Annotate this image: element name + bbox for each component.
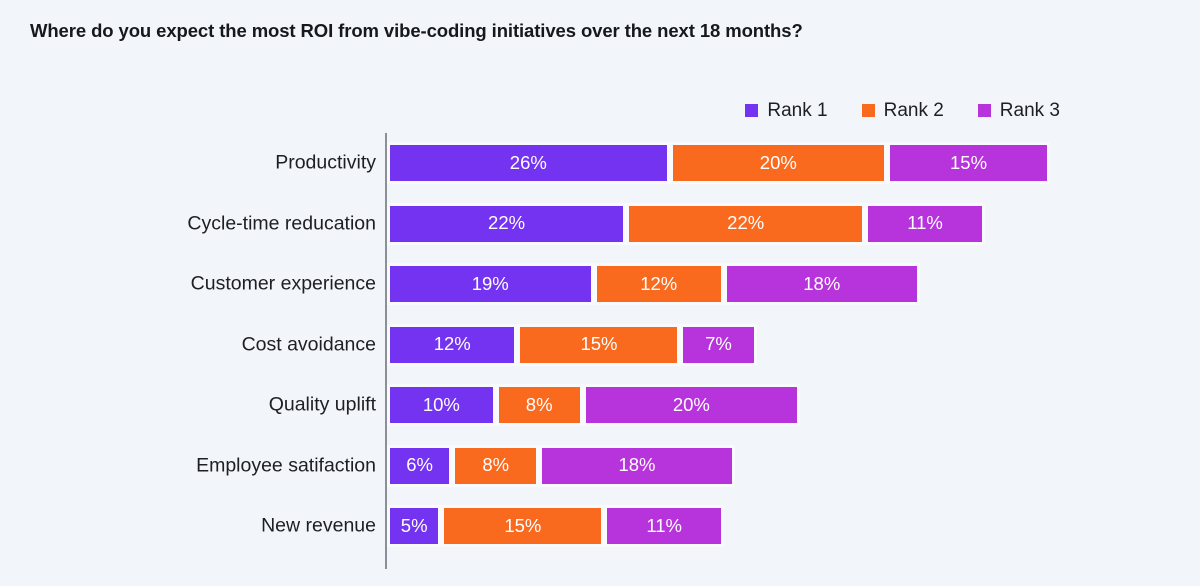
bar-segment-rank-2[interactable]: 15% bbox=[441, 505, 604, 547]
category-label: Quality uplift bbox=[269, 394, 376, 417]
bar-value-label: 8% bbox=[526, 396, 553, 415]
bar-value-label: 11% bbox=[907, 214, 943, 233]
bar-row: Cost avoidance12%15%7% bbox=[0, 315, 1200, 375]
bar-segment-rank-2[interactable]: 22% bbox=[626, 203, 865, 245]
bar-segment-rank-3[interactable]: 20% bbox=[583, 384, 800, 426]
bar-segment-rank-1[interactable]: 22% bbox=[387, 203, 626, 245]
square-swatch-icon bbox=[978, 104, 991, 117]
stacked-bar: 12%15%7% bbox=[387, 324, 757, 366]
bar-segment-rank-1[interactable]: 6% bbox=[387, 445, 452, 487]
bar-value-label: 22% bbox=[488, 214, 525, 233]
bar-segment-rank-2[interactable]: 12% bbox=[594, 263, 724, 305]
bar-value-label: 11% bbox=[646, 517, 682, 536]
bar-row: New revenue5%15%11% bbox=[0, 496, 1200, 556]
stacked-bar: 10%8%20% bbox=[387, 384, 800, 426]
bar-value-label: 12% bbox=[640, 275, 677, 294]
legend-item-rank-3[interactable]: Rank 3 bbox=[978, 101, 1060, 120]
chart-title: Where do you expect the most ROI from vi… bbox=[30, 20, 803, 42]
bar-segment-rank-2[interactable]: 8% bbox=[452, 445, 539, 487]
bar-segment-rank-3[interactable]: 11% bbox=[865, 203, 985, 245]
category-label: Productivity bbox=[275, 152, 376, 175]
bar-value-label: 22% bbox=[727, 214, 764, 233]
stacked-bar: 5%15%11% bbox=[387, 505, 724, 547]
bar-segment-rank-1[interactable]: 26% bbox=[387, 142, 670, 184]
bar-value-label: 10% bbox=[423, 396, 460, 415]
bar-value-label: 18% bbox=[803, 275, 840, 294]
chart-legend: Rank 1Rank 2Rank 3 bbox=[745, 101, 1060, 120]
stacked-bar: 22%22%11% bbox=[387, 203, 985, 245]
bar-row: Productivity26%20%15% bbox=[0, 133, 1200, 193]
stacked-bar: 26%20%15% bbox=[387, 142, 1050, 184]
category-label: Employee satifaction bbox=[196, 454, 376, 477]
plot-area: Productivity26%20%15%Cycle-time reducati… bbox=[0, 133, 1200, 573]
bar-value-label: 6% bbox=[406, 456, 433, 475]
bar-segment-rank-2[interactable]: 8% bbox=[496, 384, 583, 426]
bar-segment-rank-2[interactable]: 20% bbox=[670, 142, 887, 184]
bar-segment-rank-3[interactable]: 11% bbox=[604, 505, 724, 547]
bar-row: Cycle-time reducation22%22%11% bbox=[0, 194, 1200, 254]
bar-segment-rank-1[interactable]: 10% bbox=[387, 384, 496, 426]
bar-value-label: 20% bbox=[760, 154, 797, 173]
bar-value-label: 8% bbox=[482, 456, 509, 475]
bar-value-label: 15% bbox=[950, 154, 987, 173]
stacked-bar: 19%12%18% bbox=[387, 263, 920, 305]
legend-label: Rank 1 bbox=[767, 101, 827, 120]
bar-segment-rank-3[interactable]: 18% bbox=[539, 445, 735, 487]
bar-value-label: 18% bbox=[618, 456, 655, 475]
stacked-bar-chart: Where do you expect the most ROI from vi… bbox=[0, 0, 1200, 586]
bar-value-label: 7% bbox=[705, 335, 732, 354]
legend-label: Rank 2 bbox=[884, 101, 944, 120]
bar-row: Employee satifaction6%8%18% bbox=[0, 436, 1200, 496]
bar-segment-rank-3[interactable]: 7% bbox=[680, 324, 756, 366]
bar-row: Customer experience19%12%18% bbox=[0, 254, 1200, 314]
bar-value-label: 19% bbox=[472, 275, 509, 294]
bar-segment-rank-1[interactable]: 5% bbox=[387, 505, 441, 547]
bar-segment-rank-3[interactable]: 15% bbox=[887, 142, 1050, 184]
bar-segment-rank-3[interactable]: 18% bbox=[724, 263, 920, 305]
bar-segment-rank-1[interactable]: 12% bbox=[387, 324, 517, 366]
category-label: Cost avoidance bbox=[242, 333, 376, 356]
bar-value-label: 26% bbox=[510, 154, 547, 173]
bar-segment-rank-1[interactable]: 19% bbox=[387, 263, 594, 305]
category-label: Customer experience bbox=[191, 273, 376, 296]
square-swatch-icon bbox=[745, 104, 758, 117]
bar-value-label: 12% bbox=[434, 335, 471, 354]
bar-value-label: 20% bbox=[673, 396, 710, 415]
bar-row: Quality uplift10%8%20% bbox=[0, 375, 1200, 435]
bar-segment-rank-2[interactable]: 15% bbox=[517, 324, 680, 366]
bar-value-label: 15% bbox=[580, 335, 617, 354]
category-label: New revenue bbox=[261, 515, 376, 538]
category-label: Cycle-time reducation bbox=[187, 212, 376, 235]
legend-item-rank-2[interactable]: Rank 2 bbox=[862, 101, 944, 120]
square-swatch-icon bbox=[862, 104, 875, 117]
legend-label: Rank 3 bbox=[1000, 101, 1060, 120]
bar-value-label: 15% bbox=[504, 517, 541, 536]
stacked-bar: 6%8%18% bbox=[387, 445, 735, 487]
legend-item-rank-1[interactable]: Rank 1 bbox=[745, 101, 827, 120]
bar-value-label: 5% bbox=[401, 517, 428, 536]
